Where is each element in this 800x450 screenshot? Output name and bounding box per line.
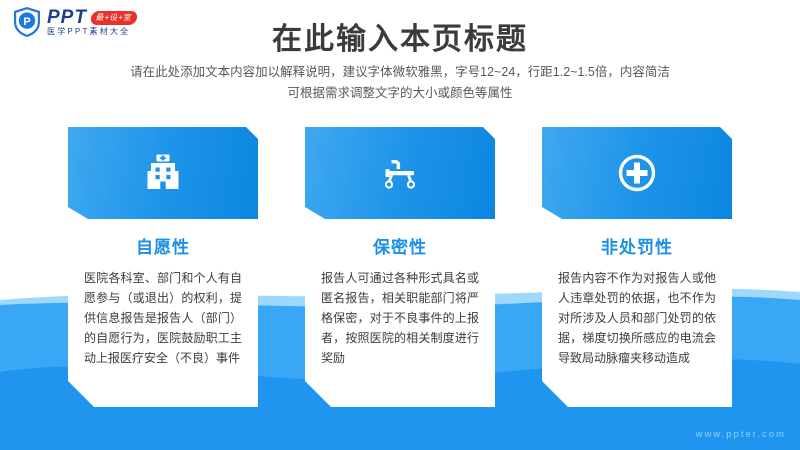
feature-cards: 自愿性 医院各科室、部门和个人有自愿参与（或退出）的权利，提供信息报告是报告人（…	[0, 127, 800, 427]
logo-tagline: 医学PPT素材大全	[47, 28, 137, 36]
shield-letter: P	[23, 16, 30, 28]
card-body: 非处罚性 报告内容不作为对报告人或他人违章处罚的依据，也不作为对所涉及人员和部门…	[542, 219, 732, 407]
card-text: 报告人可通过各种形式具名或匿名报告，相关职能部门将严格保密，对于不良事件的上报者…	[315, 268, 485, 368]
card-text: 医院各科室、部门和个人有自愿参与（或退出）的权利，提供信息报告是报告人（部门）的…	[78, 268, 248, 368]
card-body: 保密性 报告人可通过各种形式具名或匿名报告，相关职能部门将严格保密，对于不良事件…	[305, 219, 495, 407]
feature-card[interactable]: 保密性 报告人可通过各种形式具名或匿名报告，相关职能部门将严格保密，对于不良事件…	[305, 127, 495, 427]
logo-badge: 最+设+室	[90, 11, 138, 25]
card-title: 保密性	[315, 233, 485, 258]
card-text: 报告内容不作为对报告人或他人违章处罚的依据，也不作为对所涉及人员和部门处罚的依据…	[552, 268, 722, 368]
subtitle-line-2: 可根据需求调整文字的大小或颜色等属性	[0, 83, 800, 104]
card-title: 自愿性	[78, 233, 248, 258]
logo-brand: PPT	[47, 8, 87, 27]
card-header	[68, 127, 258, 219]
site-logo[interactable]: P PPT 最+设+室 医学PPT素材大全	[12, 6, 137, 38]
shield-p-icon: P	[12, 6, 42, 38]
card-body: 自愿性 医院各科室、部门和个人有自愿参与（或退出）的权利，提供信息报告是报告人（…	[68, 219, 258, 407]
hospital-bed-icon	[376, 149, 424, 197]
hospital-building-icon	[139, 149, 187, 197]
page-subtitle: 请在此处添加文本内容加以解释说明，建议字体微软雅黑，字号12~24，行距1.2~…	[0, 62, 800, 104]
subtitle-line-1: 请在此处添加文本内容加以解释说明，建议字体微软雅黑，字号12~24，行距1.2~…	[0, 62, 800, 83]
feature-card[interactable]: 自愿性 医院各科室、部门和个人有自愿参与（或退出）的权利，提供信息报告是报告人（…	[68, 127, 258, 427]
card-title: 非处罚性	[552, 233, 722, 258]
medical-cross-circle-icon	[613, 149, 661, 197]
feature-card[interactable]: 非处罚性 报告内容不作为对报告人或他人违章处罚的依据，也不作为对所涉及人员和部门…	[542, 127, 732, 427]
card-header	[305, 127, 495, 219]
card-header	[542, 127, 732, 219]
footer-watermark: www.ppter.com	[696, 429, 786, 440]
